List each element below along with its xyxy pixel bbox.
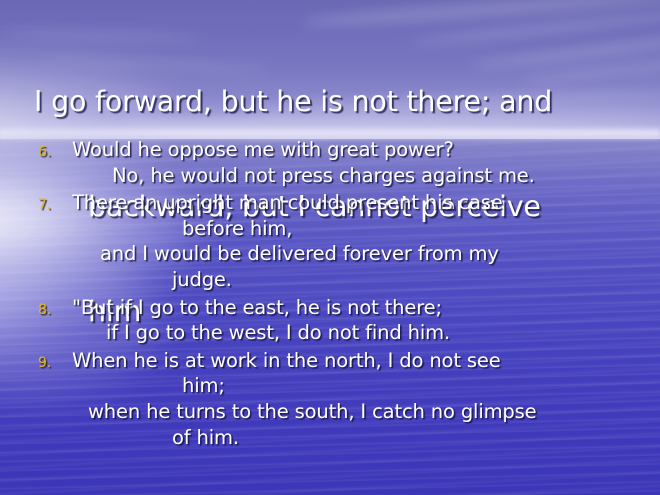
list-item-text: There an upright man could present his c… xyxy=(72,190,654,292)
verse-line: No, he would not press charges against m… xyxy=(72,163,654,189)
list-marker: 6. xyxy=(38,140,64,166)
list-item-text: When he is at work in the north, I do no… xyxy=(72,348,654,450)
list-marker: 8. xyxy=(38,298,64,324)
list-item: 8. "But if I go to the east, he is not t… xyxy=(0,295,660,346)
list-item: 9. When he is at work in the north, I do… xyxy=(0,348,660,450)
list-marker: 7. xyxy=(38,193,64,219)
list-marker: 9. xyxy=(38,351,64,377)
verse-line: when he turns to the south, I catch no g… xyxy=(72,399,654,425)
title-line-1: I go forward, but he is not there; and xyxy=(34,84,634,119)
slide-content: I go forward, but he is not there; and b… xyxy=(0,0,660,495)
verse-line: of him. xyxy=(72,425,654,451)
verse-list: 6. Would he oppose me with great power? … xyxy=(0,136,660,450)
list-item-text: "But if I go to the east, he is not ther… xyxy=(72,295,654,346)
verse-line: before him, xyxy=(72,216,654,242)
presentation-slide: I go forward, but he is not there; and b… xyxy=(0,0,660,495)
list-item-text: Would he oppose me with great power? No,… xyxy=(72,137,654,188)
list-item: 7. There an upright man could present hi… xyxy=(0,190,660,292)
verse-line: There an upright man could present his c… xyxy=(72,190,654,216)
verse-line: When he is at work in the north, I do no… xyxy=(72,348,654,374)
verse-line: "But if I go to the east, he is not ther… xyxy=(72,295,654,321)
verse-line: Would he oppose me with great power? xyxy=(72,137,654,163)
list-item: 6. Would he oppose me with great power? … xyxy=(0,137,660,188)
verse-line: and I would be delivered forever from my xyxy=(72,241,654,267)
verse-line: if I go to the west, I do not find him. xyxy=(72,320,654,346)
verse-line: judge. xyxy=(72,267,654,293)
verse-line: him; xyxy=(72,373,654,399)
